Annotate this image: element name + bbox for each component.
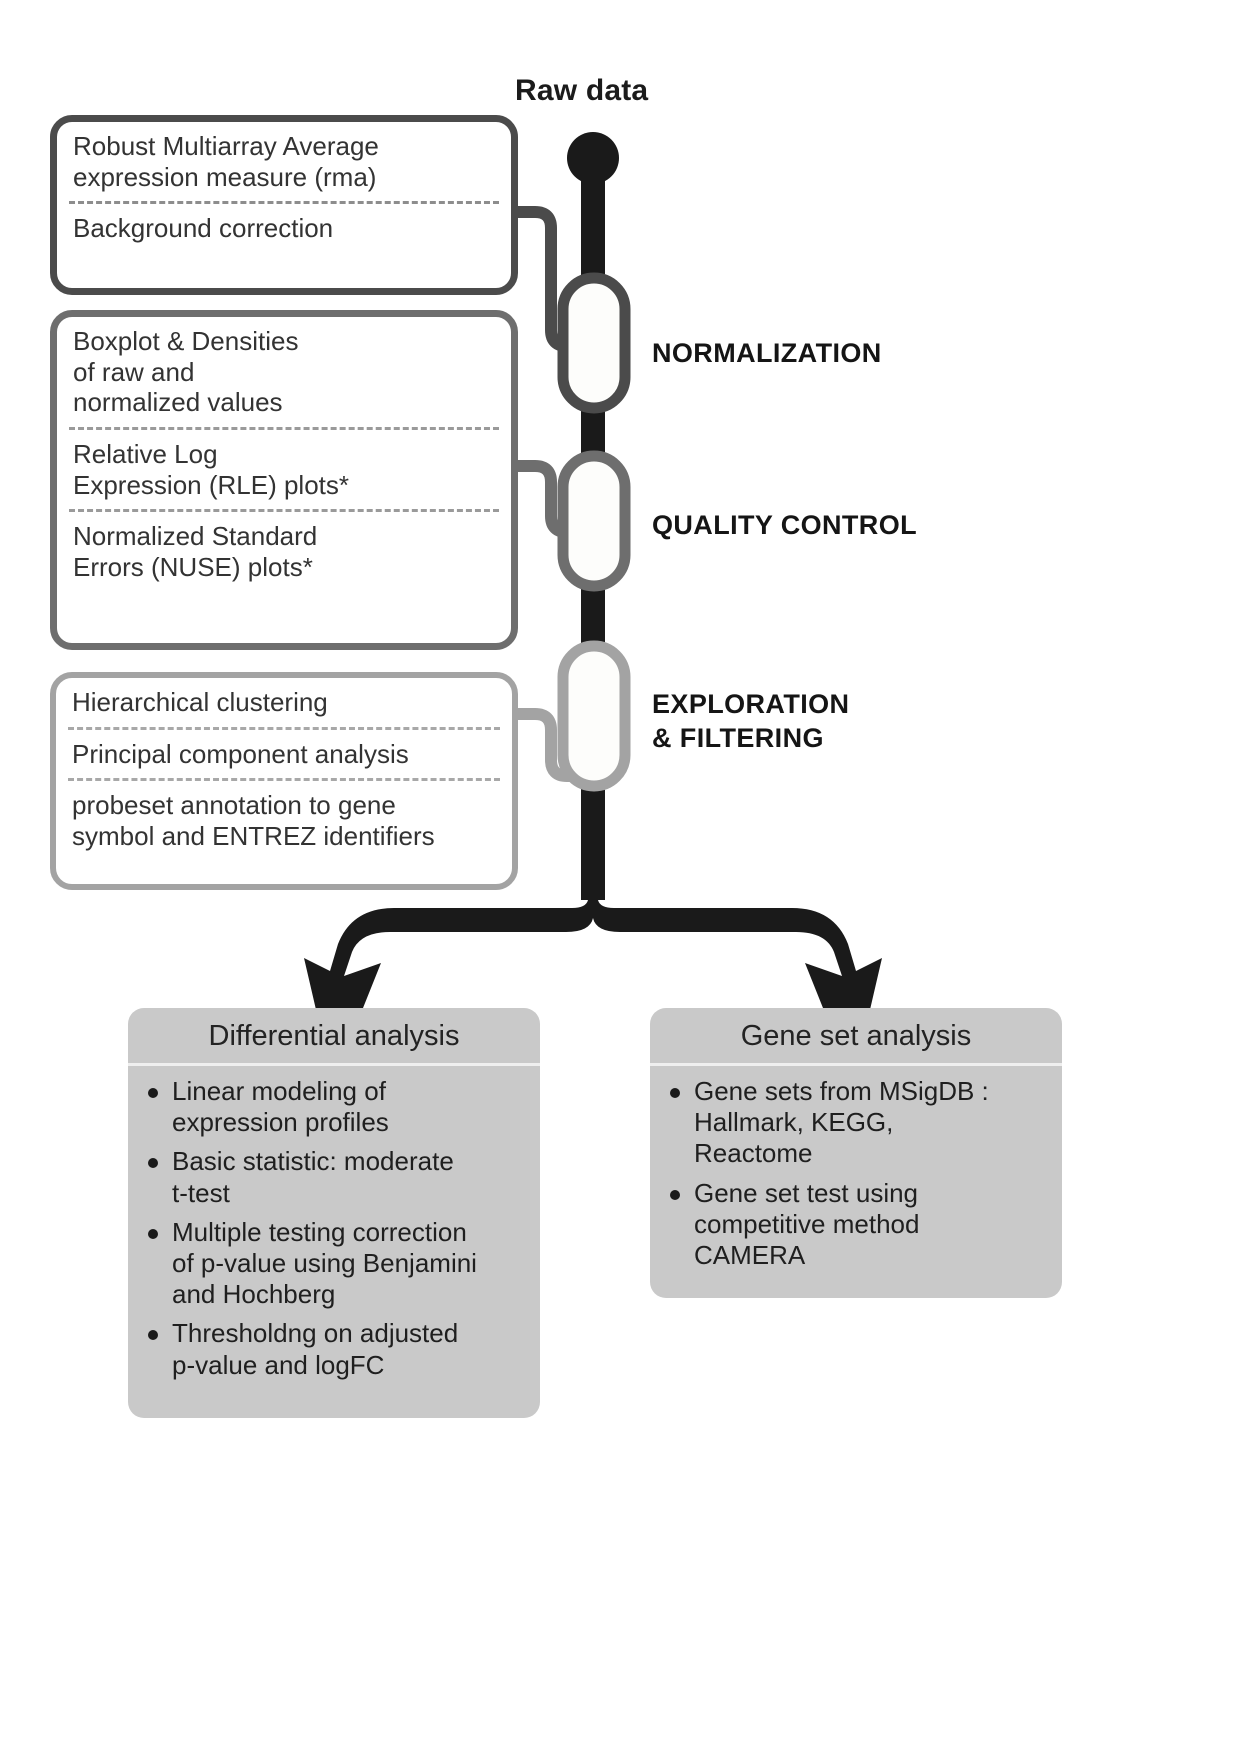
stage-label-normalization: NORMALIZATION [652, 337, 882, 371]
node-exploration [563, 646, 625, 786]
stage-label-exploration-filtering: EXPLORATION & FILTERING [652, 688, 849, 756]
card-gene-set-analysis-title: Gene set analysis [650, 1008, 1062, 1066]
node-quality-control [563, 456, 625, 586]
list-item: Gene sets from MSigDB : Hallmark, KEGG, … [668, 1076, 1046, 1170]
panel-normalization: Robust Multiarray Average expression mea… [50, 115, 518, 295]
panel-exploration-item-2: probeset annotation to gene symbol and E… [56, 781, 512, 860]
panel-exploration-filtering: Hierarchical clustering Principal compon… [50, 672, 518, 890]
card-differential-analysis: Differential analysis Linear modeling of… [128, 1008, 540, 1418]
raw-data-title: Raw data [515, 74, 648, 108]
node-normalization [563, 278, 625, 408]
panel-quality-control: Boxplot & Densities of raw and normalize… [50, 310, 518, 650]
list-item: Basic statistic: moderate t-test [146, 1146, 524, 1208]
panel-quality-control-item-2: Normalized Standard Errors (NUSE) plots* [57, 512, 511, 591]
spine-line [581, 158, 605, 900]
list-item: Multiple testing correction of p-value u… [146, 1217, 524, 1311]
panel-quality-control-item-1: Relative Log Expression (RLE) plots* [57, 430, 511, 509]
panel-exploration-item-0: Hierarchical clustering [56, 678, 512, 727]
panel-normalization-item-0: Robust Multiarray Average expression mea… [57, 122, 511, 201]
workflow-diagram: Raw data Robust Multiarray Average expre… [0, 0, 1240, 1753]
card-differential-analysis-list: Linear modeling of expression profiles B… [128, 1066, 540, 1405]
panel-quality-control-item-0: Boxplot & Densities of raw and normalize… [57, 317, 511, 427]
connector-exploration [518, 714, 585, 776]
raw-data-node-icon [567, 132, 619, 184]
list-item: Thresholdng on adjusted p-value and logF… [146, 1318, 524, 1380]
panel-exploration-item-1: Principal component analysis [56, 730, 512, 779]
panel-normalization-item-1: Background correction [57, 204, 511, 253]
card-gene-set-analysis-list: Gene sets from MSigDB : Hallmark, KEGG, … [650, 1066, 1062, 1295]
card-gene-set-analysis: Gene set analysis Gene sets from MSigDB … [650, 1008, 1062, 1298]
stage-label-quality-control: QUALITY CONTROL [652, 509, 917, 543]
connector-quality-control [518, 466, 585, 532]
connector-normalization [518, 212, 585, 346]
list-item: Linear modeling of expression profiles [146, 1076, 524, 1138]
card-differential-analysis-title: Differential analysis [128, 1008, 540, 1066]
list-item: Gene set test using competitive method C… [668, 1178, 1046, 1272]
spine-group [567, 132, 619, 900]
